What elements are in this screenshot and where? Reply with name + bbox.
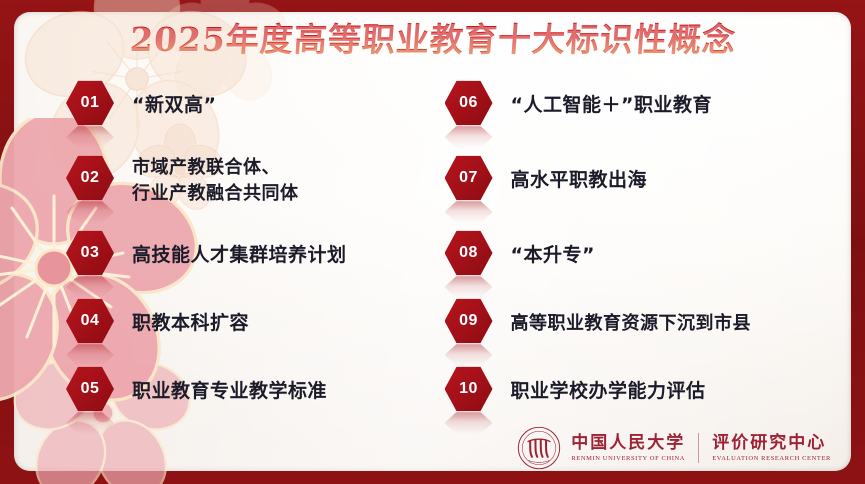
badge-number: 05 [66, 366, 114, 412]
hexagon-badge: 07 [445, 155, 493, 207]
concept-list: 01 “新双高” 02 市域产教联合体、 行业产教融合共同体 03 高技能人才集… [0, 72, 865, 412]
list-item[interactable]: 01 “新双高” [66, 72, 433, 140]
hexagon-badge: 06 [445, 80, 493, 132]
badge-reflection [66, 201, 114, 223]
badge-number: 09 [445, 298, 493, 344]
list-item-label: 高等职业教育资源下沉到市县 [511, 311, 752, 337]
list-item-label: “本升专” [511, 242, 595, 270]
list-item-label: 职业教育专业教学标准 [132, 378, 327, 406]
list-item-label: “人工智能＋”职业教育 [511, 92, 712, 120]
list-item[interactable]: 06 “人工智能＋”职业教育 [445, 72, 865, 140]
list-item[interactable]: 02 市域产教联合体、 行业产教融合共同体 [66, 140, 433, 222]
center-name-block: 评价研究中心 EVALUATION RESEARCH CENTER [712, 434, 831, 463]
logo-divider [698, 433, 699, 463]
hexagon-badge: 08 [445, 230, 493, 282]
list-item[interactable]: 08 “本升专” [445, 222, 865, 290]
badge-number: 04 [66, 298, 114, 344]
university-name-block: 中国人民大学 RENMIN UNIVERSITY OF CHINA [571, 434, 685, 463]
list-item-label: 职教本科扩容 [132, 310, 249, 338]
badge-number: 02 [66, 155, 114, 201]
poster-root: 2025年度高等职业教育十大标识性概念 01 “新双高” 02 市域产教联合体、… [0, 0, 865, 484]
hexagon-badge: 02 [66, 155, 114, 207]
badge-number: 10 [445, 366, 493, 412]
center-name-cn: 评价研究中心 [712, 434, 831, 454]
hexagon-badge: 09 [445, 298, 493, 350]
list-item[interactable]: 03 高技能人才集群培养计划 [66, 222, 433, 290]
badge-number: 06 [445, 80, 493, 126]
university-name-en: RENMIN UNIVERSITY OF CHINA [571, 455, 685, 462]
page-title: 2025年度高等职业教育十大标识性概念 [128, 22, 736, 58]
list-item[interactable]: 04 职教本科扩容 [66, 290, 433, 358]
hexagon-badge: 01 [66, 80, 114, 132]
badge-number: 07 [445, 155, 493, 201]
badge-number: 08 [445, 230, 493, 276]
list-item-label: “新双高” [132, 92, 216, 120]
badge-number: 03 [66, 230, 114, 276]
badge-number: 01 [66, 80, 114, 126]
list-item-label: 高技能人才集群培养计划 [132, 242, 347, 270]
hexagon-badge: 04 [66, 298, 114, 350]
hexagon-badge: 03 [66, 230, 114, 282]
university-seal-icon [517, 426, 561, 470]
list-item[interactable]: 09 高等职业教育资源下沉到市县 [445, 290, 865, 358]
list-item[interactable]: 10 职业学校办学能力评估 [445, 358, 865, 426]
footer-logo: 中国人民大学 RENMIN UNIVERSITY OF CHINA 评价研究中心… [517, 426, 831, 470]
list-item-label: 市域产教联合体、 行业产教融合共同体 [132, 155, 299, 207]
list-item-label: 高水平职教出海 [511, 167, 648, 195]
hexagon-badge: 10 [445, 366, 493, 418]
list-item-label: 职业学校办学能力评估 [511, 378, 706, 406]
center-name-en: EVALUATION RESEARCH CENTER [712, 455, 831, 462]
concept-column-right: 06 “人工智能＋”职业教育 07 高水平职教出海 08 “本升专” [433, 72, 865, 426]
badge-reflection [445, 201, 493, 223]
list-item[interactable]: 05 职业教育专业教学标准 [66, 358, 433, 426]
university-name-cn: 中国人民大学 [571, 434, 685, 454]
list-item[interactable]: 07 高水平职教出海 [445, 140, 865, 222]
concept-column-left: 01 “新双高” 02 市域产教联合体、 行业产教融合共同体 03 高技能人才集… [0, 72, 433, 426]
hexagon-badge: 05 [66, 366, 114, 418]
title-container: 2025年度高等职业教育十大标识性概念 [0, 22, 865, 58]
